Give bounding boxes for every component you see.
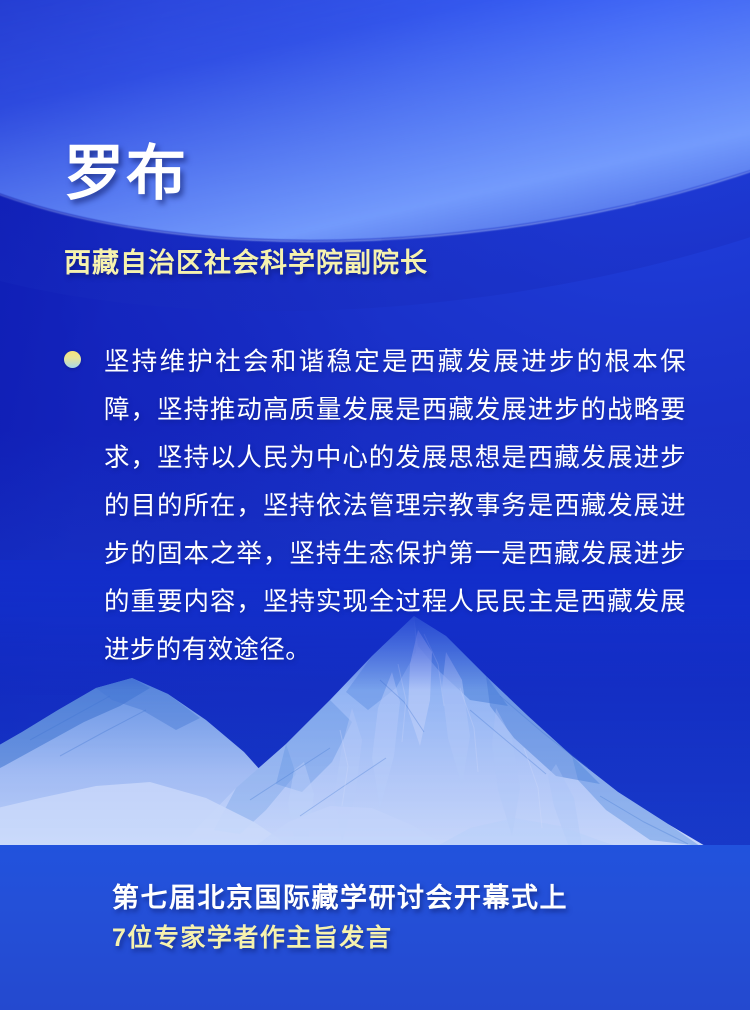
footer-band: 第七届北京国际藏学研讨会开幕式上 7位专家学者作主旨发言 — [0, 845, 750, 1010]
speaker-name: 罗布 — [64, 144, 188, 204]
speaker-role: 西藏自治区社会科学院副院长 — [64, 250, 428, 277]
poster-card: 罗布 西藏自治区社会科学院副院长 坚持维护社会和谐稳定是西藏发展进步的根本保障，… — [0, 0, 750, 1010]
footer-text-group: 第七届北京国际藏学研讨会开幕式上 7位专家学者作主旨发言 — [112, 885, 568, 951]
bullet-dot-icon — [64, 351, 81, 368]
quote-block: 坚持维护社会和谐稳定是西藏发展进步的根本保障，坚持推动高质量发展是西藏发展进步的… — [64, 338, 686, 674]
footer-speakers-subtitle: 7位专家学者作主旨发言 — [112, 926, 568, 951]
footer-event-title: 第七届北京国际藏学研讨会开幕式上 — [112, 885, 568, 912]
quote-text: 坚持维护社会和谐稳定是西藏发展进步的根本保障，坚持推动高质量发展是西藏发展进步的… — [104, 338, 686, 674]
